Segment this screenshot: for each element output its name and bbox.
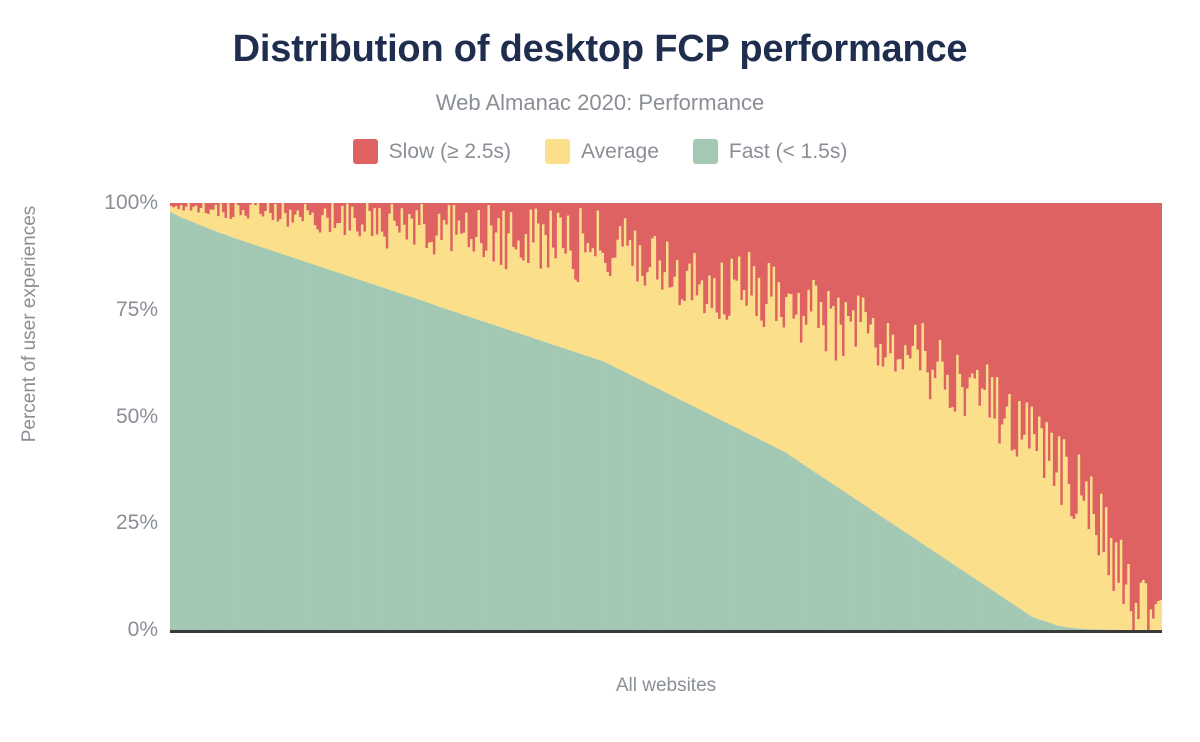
plot-area[interactable] — [170, 203, 1162, 630]
y-axis-title: Percent of user experiences — [19, 89, 41, 559]
y-axis-ticks: 100% 75% 50% 25% 0% — [48, 0, 158, 742]
y-tick-0: 0% — [58, 618, 158, 642]
y-tick-50: 50% — [58, 405, 158, 429]
y-tick-75: 75% — [58, 298, 158, 322]
y-tick-25: 25% — [58, 511, 158, 535]
plot-wrapper: Percent of user experiences 100% 75% 50%… — [0, 0, 1200, 742]
x-axis-title: All websites — [170, 675, 1162, 697]
y-tick-100: 100% — [58, 191, 158, 215]
x-axis-line — [170, 630, 1162, 633]
stacked-bars — [170, 203, 1162, 630]
chart-figure: Distribution of desktop FCP performance … — [0, 0, 1200, 742]
